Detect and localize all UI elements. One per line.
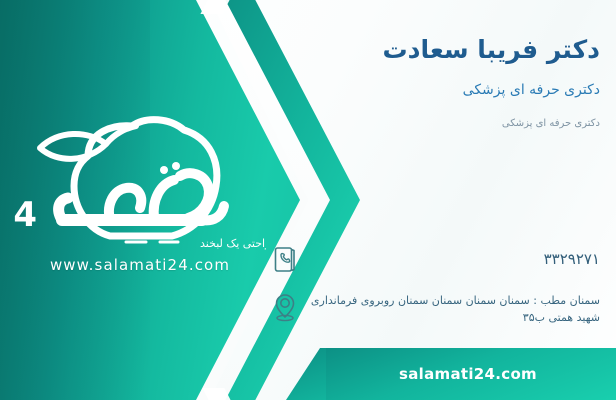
svg-text:به راحتی یک لبخند: به راحتی یک لبخند bbox=[200, 237, 266, 250]
phonebook-icon bbox=[270, 242, 300, 276]
salamati24-logo: 24 به راحتی یک لبخند www.salamati24.com bbox=[14, 104, 266, 276]
doctor-name: دکتر فریبا سعادت bbox=[280, 34, 600, 65]
contact-row-phone[interactable]: ۳۳۲۹۲۷۱ bbox=[270, 242, 600, 276]
phone-number[interactable]: ۳۳۲۹۲۷۱ bbox=[310, 242, 600, 271]
doctor-info: دکتر فریبا سعادت دکتری حرفه ای پزشکی دکت… bbox=[280, 34, 600, 131]
contact-list: ۳۳۲۹۲۷۱ سمنان مطب : سمنان سمنان سمنان سم… bbox=[270, 242, 600, 340]
business-card: 24 به راحتی یک لبخند www.salamati24.com … bbox=[0, 0, 616, 400]
logo-url: www.salamati24.com bbox=[14, 256, 266, 274]
clinic-address[interactable]: سمنان مطب : سمنان سمنان سمنان سمنان روبر… bbox=[310, 290, 600, 326]
contact-row-address[interactable]: سمنان مطب : سمنان سمنان سمنان سمنان روبر… bbox=[270, 290, 600, 326]
footer-bar[interactable]: salamati24.com bbox=[320, 348, 616, 400]
svg-text:24: 24 bbox=[14, 195, 36, 235]
location-pin-icon bbox=[270, 290, 300, 324]
footer-url[interactable]: salamati24.com bbox=[399, 365, 537, 383]
specialty-primary: دکتری حرفه ای پزشکی bbox=[280, 81, 600, 101]
specialty-secondary: دکتری حرفه ای پزشکی bbox=[280, 117, 600, 131]
